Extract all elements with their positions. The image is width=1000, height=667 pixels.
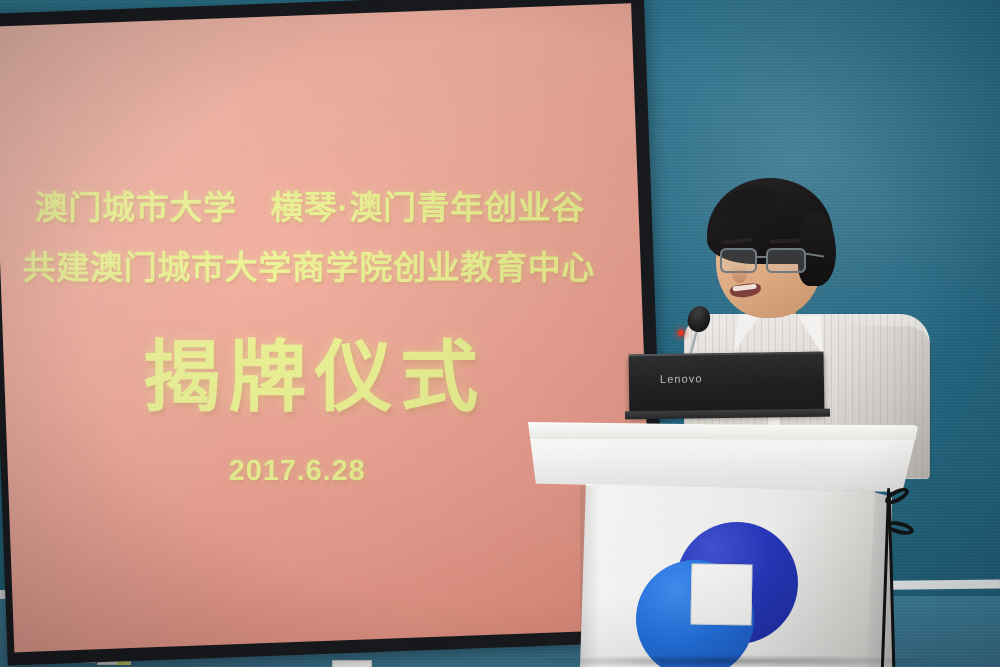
wall-socket-plate-far-right: [332, 660, 372, 667]
lectern-podium: [518, 400, 938, 667]
slide-line-1: 澳门城市大学 横琴·澳门青年创业谷: [35, 181, 585, 229]
logo-center-square: [690, 563, 752, 625]
microphone-led-indicator: [678, 330, 684, 336]
laptop-brand-label: Lenovo: [660, 373, 703, 386]
slide-title: 揭牌仪式: [143, 315, 486, 427]
china-construction-bank-logo: [636, 522, 798, 667]
podium-floor-shadow: [520, 655, 940, 667]
glasses-lens-right: [766, 248, 806, 273]
glasses-bridge: [756, 256, 767, 258]
photograph-scene: 澳门城市大学 横琴·澳门青年创业谷 共建澳门城市大学商学院创业教育中心 揭牌仪式…: [0, 0, 1000, 667]
nose: [732, 264, 747, 283]
podium-left-shading: [580, 486, 600, 667]
slide-date: 2017.6.28: [229, 455, 366, 488]
podium-top-front-face: [530, 424, 916, 440]
slide-line-2: 共建澳门城市大学商学院创业教育中心: [23, 241, 595, 289]
